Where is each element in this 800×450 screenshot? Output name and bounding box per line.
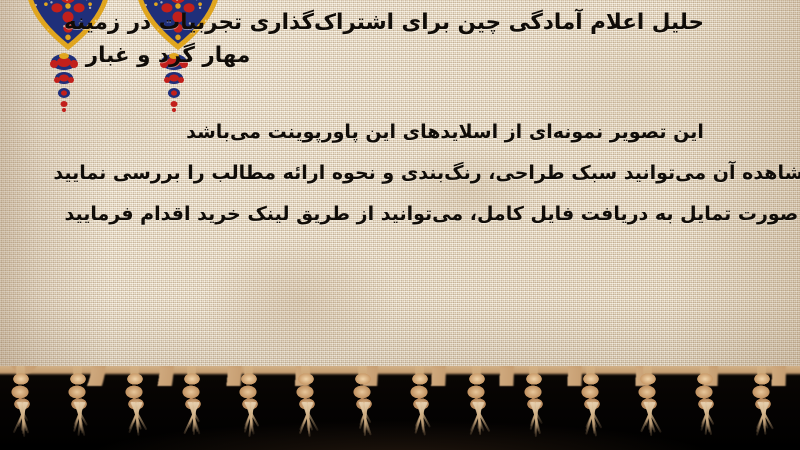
fringe-tassel — [678, 368, 734, 448]
slide-title: حلیل اعلام آمادگی چین برای اشتراک‌گذاری … — [0, 6, 800, 72]
fringe-tassel — [393, 368, 449, 448]
carpet-fringe-band — [0, 366, 800, 450]
fringe-tassel — [450, 368, 506, 448]
presentation-slide: حلیل اعلام آمادگی چین برای اشتراک‌گذاری … — [0, 0, 800, 450]
fringe-tassel — [336, 368, 392, 448]
tassel-threads — [342, 402, 386, 446]
slide-body-line-1: این تصویر نمونه‌ای از اسلایدهای این پاور… — [0, 112, 800, 153]
fringe-tassel — [564, 368, 620, 448]
slide-title-line-1: حلیل اعلام آمادگی چین برای اشتراک‌گذاری … — [0, 6, 790, 39]
tassel-threads — [513, 402, 557, 446]
fringe-tassel — [279, 368, 335, 448]
tassel-threads — [0, 402, 44, 446]
tassel-threads — [399, 402, 443, 446]
fringe-tassel — [0, 368, 50, 448]
tassel-threads — [57, 402, 101, 446]
slide-body-line-3: در صورت تمایل به دریافت فایل کامل، می‌تو… — [0, 194, 800, 235]
tassel-threads — [741, 402, 785, 446]
tassel-threads — [285, 402, 329, 446]
fringe-tassel — [621, 368, 677, 448]
tassel-threads — [171, 402, 215, 446]
fringe-tassel — [51, 368, 107, 448]
fringe-tassel — [108, 368, 164, 448]
tassel-threads — [570, 402, 614, 446]
tassel-threads — [627, 402, 671, 446]
tassel-threads — [456, 402, 500, 446]
slide-title-line-2: مهار گرد و غبار — [0, 39, 574, 72]
tassel-threads — [684, 402, 728, 446]
fringe-tassel — [222, 368, 278, 448]
tassel-threads — [228, 402, 272, 446]
fringe-tassel — [735, 368, 791, 448]
tassel-threads — [114, 402, 158, 446]
slide-body-text: این تصویر نمونه‌ای از اسلایدهای این پاور… — [0, 112, 800, 235]
slide-body-line-2: با مشاهده آن می‌توانید سبک طراحی، رنگ‌بن… — [0, 153, 800, 194]
fringe-tassel — [165, 368, 221, 448]
fringe-tassel — [507, 368, 563, 448]
